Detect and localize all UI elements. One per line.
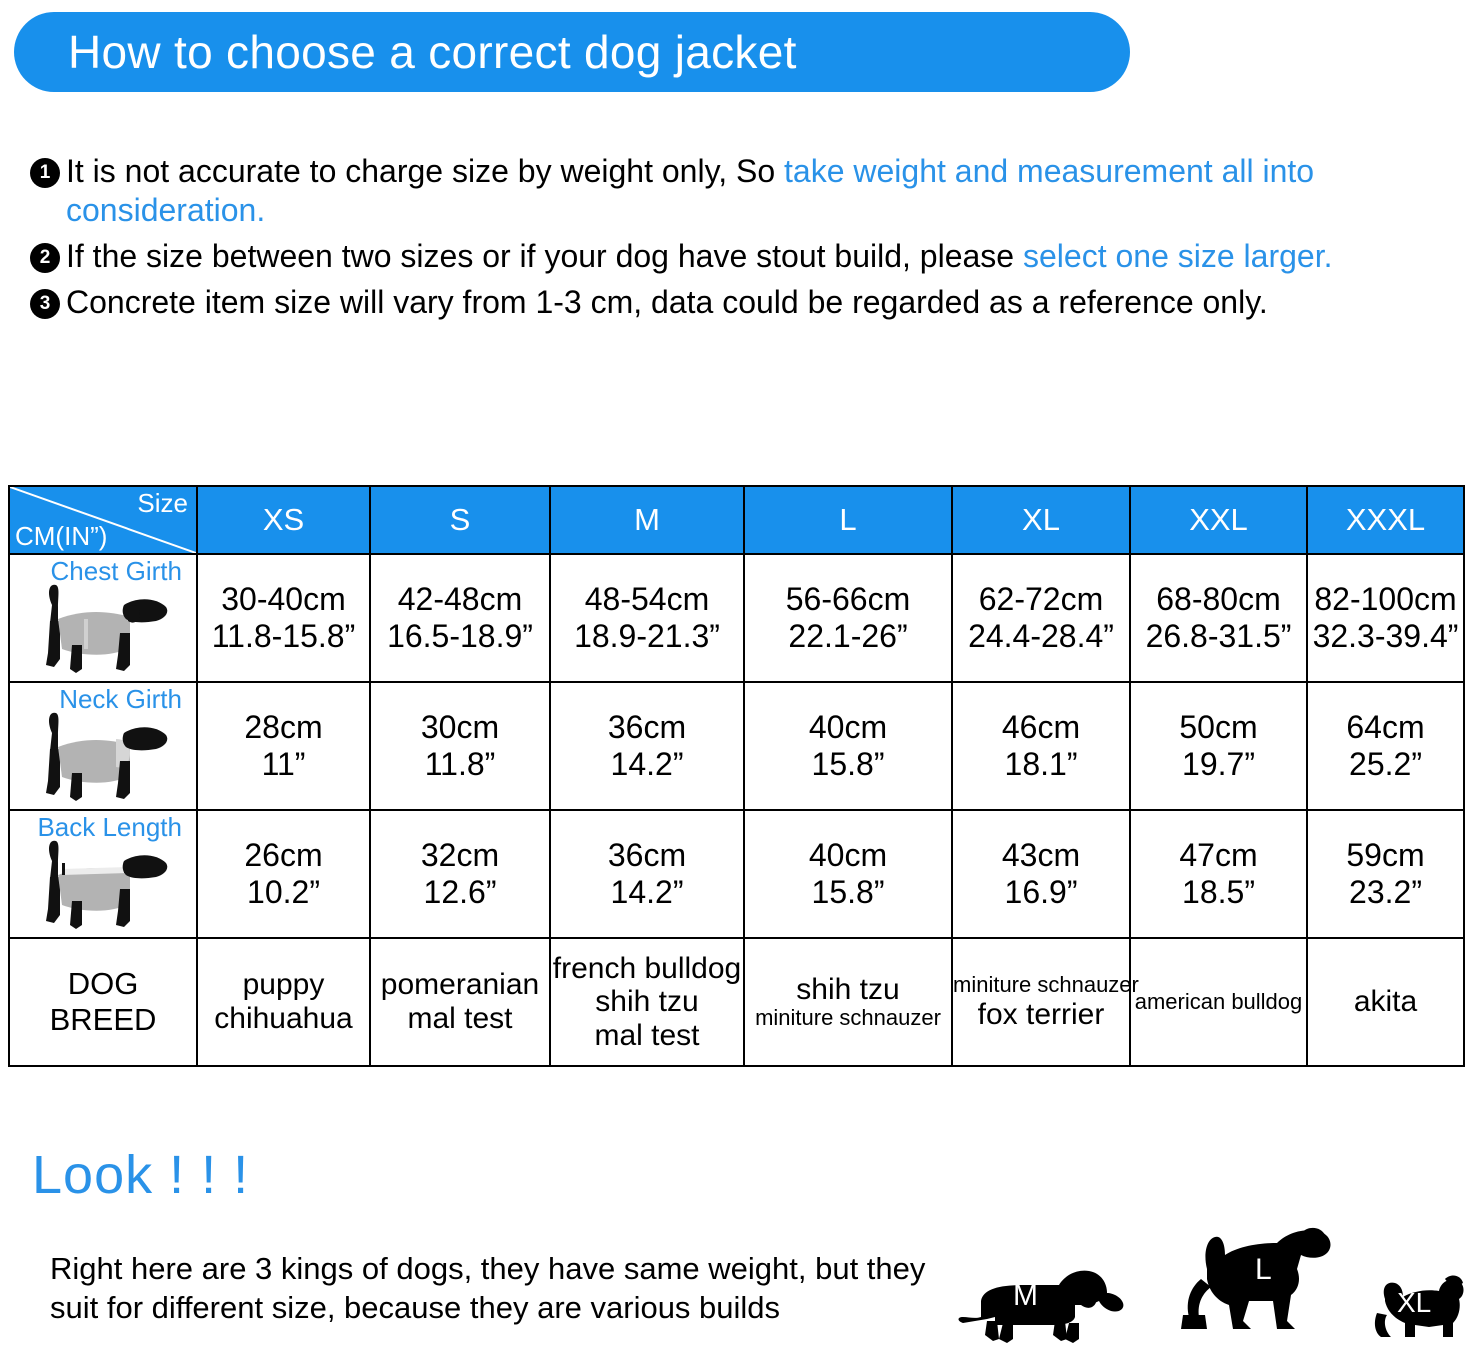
neck-girth-label: Neck Girth: [10, 684, 190, 715]
cell-chest-girth-s: 42-48cm16.5-18.9”: [370, 554, 550, 682]
dog-comparison-row: M L XL: [955, 1225, 1467, 1365]
cell-back-length-xs: 26cm10.2”: [197, 810, 370, 938]
value-in: 11”: [198, 746, 369, 783]
cell-back-length-m: 36cm14.2”: [550, 810, 744, 938]
cell-neck-girth-m: 36cm14.2”: [550, 682, 744, 810]
note-text-1-black: It is not accurate to charge size by wei…: [66, 153, 784, 189]
breed-line: shih tzu: [551, 985, 743, 1019]
value-cm: 26cm: [198, 837, 369, 874]
note-text-3: Concrete item size will vary from 1-3 cm…: [66, 283, 1268, 322]
value-in: 10.2”: [198, 874, 369, 911]
value-in: 32.3-39.4”: [1308, 618, 1463, 655]
value-cm: 50cm: [1131, 709, 1306, 746]
dog-size-xl-badge: XL: [1397, 1287, 1431, 1319]
value-cm: 42-48cm: [371, 581, 549, 618]
dog-chest-girth-icon: [24, 575, 174, 679]
value-in: 15.8”: [745, 746, 951, 783]
breed-line: miniture schnauzer: [745, 1006, 951, 1031]
table-header-xxxl: XXXL: [1307, 486, 1464, 554]
row-header-chest-girth: Chest Girth: [9, 554, 197, 682]
breed-line: chihuahua: [198, 1002, 369, 1036]
value-cm: 46cm: [953, 709, 1129, 746]
note-number-1: 1: [30, 158, 60, 188]
value-in: 18.5”: [1131, 874, 1306, 911]
value-in: 14.2”: [551, 874, 743, 911]
value-in: 16.5-18.9”: [371, 618, 549, 655]
cell-back-length-l: 40cm15.8”: [744, 810, 952, 938]
value-cm: 56-66cm: [745, 581, 951, 618]
page-title: How to choose a correct dog jacket: [68, 29, 797, 75]
value-cm: 30-40cm: [198, 581, 369, 618]
value-cm: 30cm: [371, 709, 549, 746]
back-length-label: Back Length: [10, 812, 190, 843]
look-body-text: Right here are 3 kings of dogs, they hav…: [50, 1250, 930, 1328]
cell-neck-girth-l: 40cm15.8”: [744, 682, 952, 810]
breed-line: miniture schnauzer: [953, 973, 1129, 998]
value-in: 18.9-21.3”: [551, 618, 743, 655]
value-in: 11.8-15.8”: [198, 618, 369, 655]
look-heading: Look ! ! !: [32, 1148, 249, 1202]
breed-line: fox terrier: [953, 998, 1129, 1032]
cell-breed-xxxl: akita: [1307, 938, 1464, 1066]
value-cm: 43cm: [953, 837, 1129, 874]
value-cm: 82-100cm: [1308, 581, 1463, 618]
note-text-2: If the size between two sizes or if your…: [66, 237, 1332, 276]
table-header-s: S: [370, 486, 550, 554]
breed-line: puppy: [198, 968, 369, 1002]
breed-line: mal test: [551, 1019, 743, 1053]
value-cm: 62-72cm: [953, 581, 1129, 618]
table-row-back-length: Back Length 26cm10.2” 32: [9, 810, 1464, 938]
table-row-dog-breed: DOG BREED puppy chihuahua pomeranian mal…: [9, 938, 1464, 1066]
value-cm: 64cm: [1308, 709, 1463, 746]
cell-breed-l: shih tzu miniture schnauzer: [744, 938, 952, 1066]
dog-size-m-badge: M: [1013, 1279, 1038, 1313]
breed-line: french bulldog: [551, 952, 743, 986]
cell-back-length-xxl: 47cm18.5”: [1130, 810, 1307, 938]
page-title-banner: How to choose a correct dog jacket: [14, 12, 1130, 92]
value-cm: 32cm: [371, 837, 549, 874]
dog-size-l-badge: L: [1255, 1253, 1272, 1287]
note-number-3: 3: [30, 289, 60, 319]
breed-line: akita: [1308, 985, 1463, 1019]
value-cm: 40cm: [745, 709, 951, 746]
cell-breed-xxl: american bulldog: [1130, 938, 1307, 1066]
value-cm: 68-80cm: [1131, 581, 1306, 618]
cell-neck-girth-xs: 28cm11”: [197, 682, 370, 810]
value-in: 24.4-28.4”: [953, 618, 1129, 655]
dog-back-length-icon: [24, 831, 174, 935]
cell-back-length-xl: 43cm16.9”: [952, 810, 1130, 938]
value-in: 11.8”: [371, 746, 549, 783]
cell-back-length-xxxl: 59cm23.2”: [1307, 810, 1464, 938]
table-header-row: Size CM(IN”) XS S M L XL XXL XXXL: [9, 486, 1464, 554]
cell-neck-girth-xxl: 50cm19.7”: [1130, 682, 1307, 810]
value-cm: 28cm: [198, 709, 369, 746]
row-header-neck-girth: Neck Girth: [9, 682, 197, 810]
breed-line: shih tzu: [745, 973, 951, 1007]
cell-chest-girth-xxxl: 82-100cm32.3-39.4”: [1307, 554, 1464, 682]
cell-chest-girth-xl: 62-72cm24.4-28.4”: [952, 554, 1130, 682]
note-item-3: 3 Concrete item size will vary from 1-3 …: [30, 283, 1450, 322]
row-header-back-length: Back Length: [9, 810, 197, 938]
value-in: 16.9”: [953, 874, 1129, 911]
value-in: 18.1”: [953, 746, 1129, 783]
note-text-2-black: If the size between two sizes or if your…: [66, 238, 1023, 274]
table-row-chest-girth: Chest Girth 30-40cm11.8-15.8” 42-48cm: [9, 554, 1464, 682]
table-header-xl: XL: [952, 486, 1130, 554]
cell-neck-girth-xl: 46cm18.1”: [952, 682, 1130, 810]
cell-neck-girth-xxxl: 64cm25.2”: [1307, 682, 1464, 810]
value-cm: 59cm: [1308, 837, 1463, 874]
dog-neck-girth-icon: [24, 703, 174, 807]
note-number-2: 2: [30, 243, 60, 273]
cell-chest-girth-xs: 30-40cm11.8-15.8”: [197, 554, 370, 682]
value-in: 19.7”: [1131, 746, 1306, 783]
dog-size-l: L: [1177, 1225, 1335, 1347]
value-in: 14.2”: [551, 746, 743, 783]
table-header-m: M: [550, 486, 744, 554]
value-cm: 36cm: [551, 709, 743, 746]
value-cm: 36cm: [551, 837, 743, 874]
table-header-xs: XS: [197, 486, 370, 554]
corner-unit-label: CM(IN”): [15, 521, 107, 552]
row-header-dog-breed: DOG BREED: [9, 938, 197, 1066]
value-in: 22.1-26”: [745, 618, 951, 655]
table-row-neck-girth: Neck Girth 28cm11” 30cm11.8” 36cm14.2”: [9, 682, 1464, 810]
cell-breed-m: french bulldog shih tzu mal test: [550, 938, 744, 1066]
chest-girth-label: Chest Girth: [10, 556, 190, 587]
value-cm: 40cm: [745, 837, 951, 874]
dog-size-m: M: [955, 1261, 1135, 1347]
breed-line: pomeranian: [371, 968, 549, 1002]
note-text-2-blue: select one size larger.: [1023, 238, 1333, 274]
cell-breed-xs: puppy chihuahua: [197, 938, 370, 1066]
table-corner-cell: Size CM(IN”): [9, 486, 197, 554]
cell-neck-girth-s: 30cm11.8”: [370, 682, 550, 810]
notes-list: 1 It is not accurate to charge size by w…: [30, 152, 1450, 329]
table-header-xxl: XXL: [1130, 486, 1307, 554]
breed-line: american bulldog: [1131, 990, 1306, 1015]
cell-breed-xl: miniture schnauzer fox terrier: [952, 938, 1130, 1066]
cell-chest-girth-xxl: 68-80cm26.8-31.5”: [1130, 554, 1307, 682]
dog-size-xl: XL: [1371, 1273, 1467, 1347]
cell-chest-girth-m: 48-54cm18.9-21.3”: [550, 554, 744, 682]
cell-back-length-s: 32cm12.6”: [370, 810, 550, 938]
note-item-2: 2 If the size between two sizes or if yo…: [30, 237, 1450, 276]
note-text-3-black: Concrete item size will vary from 1-3 cm…: [66, 284, 1268, 320]
value-in: 23.2”: [1308, 874, 1463, 911]
value-cm: 47cm: [1131, 837, 1306, 874]
value-in: 12.6”: [371, 874, 549, 911]
value-in: 15.8”: [745, 874, 951, 911]
note-item-1: 1 It is not accurate to charge size by w…: [30, 152, 1450, 230]
note-text-1: It is not accurate to charge size by wei…: [66, 152, 1450, 230]
corner-size-label: Size: [137, 488, 188, 519]
breed-line: mal test: [371, 1002, 549, 1036]
size-chart-table: Size CM(IN”) XS S M L XL XXL XXXL Chest …: [8, 485, 1465, 1067]
value-cm: 48-54cm: [551, 581, 743, 618]
cell-breed-s: pomeranian mal test: [370, 938, 550, 1066]
cell-chest-girth-l: 56-66cm22.1-26”: [744, 554, 952, 682]
value-in: 26.8-31.5”: [1131, 618, 1306, 655]
dachshund-silhouette-icon: [955, 1261, 1135, 1347]
value-in: 25.2”: [1308, 746, 1463, 783]
table-header-l: L: [744, 486, 952, 554]
